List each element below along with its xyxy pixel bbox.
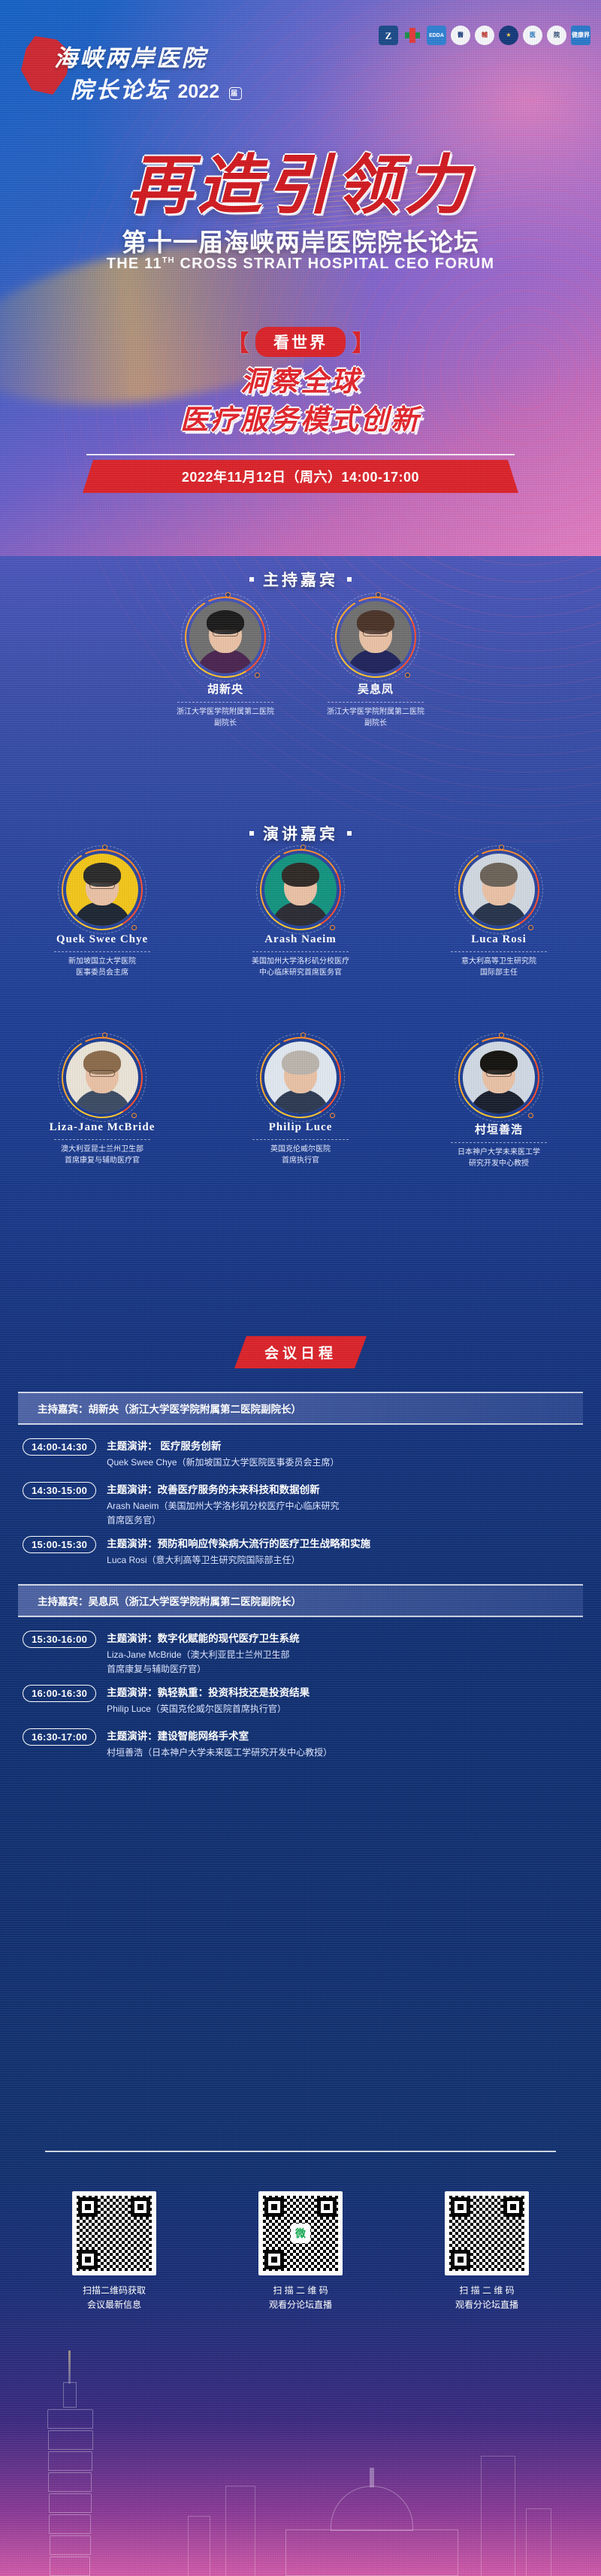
hosts-section-title: 主持嘉宾 bbox=[0, 568, 601, 591]
person-org: 美国加州大学洛杉矶分校医疗中心临床研究首席医务官 bbox=[225, 957, 376, 978]
person-org-line-1: 意大利高等卫生研究院 bbox=[430, 957, 568, 968]
ring-node-icon bbox=[300, 1033, 306, 1038]
agenda-host-bar-2: 主持嘉宾：吴息凤（浙江大学医学院附属第二医院副院长） bbox=[18, 1584, 583, 1617]
speaker-card-2: Arash Naeim美国加州大学洛杉矶分校医疗中心临床研究首席医务官 bbox=[225, 854, 376, 978]
speaker-card-5: Philip Luce英国克伦威尔医院首席执行官 bbox=[225, 1042, 376, 1166]
agenda-speaker-line: 村垣善浩（日本神户大学未来医工学研究开发中心教授） bbox=[107, 1746, 583, 1760]
agenda-speaker-line: 首席医务官） bbox=[107, 1513, 583, 1528]
ring-node-icon bbox=[102, 845, 107, 850]
host-card-1: 胡新央浙江大学医学院附属第二医院副院长 bbox=[150, 601, 300, 729]
date-banner-wrap: 2022年11月12日（周六）14:00-17:00 bbox=[0, 454, 601, 493]
bracket-right: 】 bbox=[352, 325, 374, 358]
agenda-speaker-line: Philip Luce（英国克伦威尔医院首席执行官） bbox=[107, 1702, 583, 1716]
person-org: 意大利高等卫生研究院国际部主任 bbox=[424, 957, 574, 978]
person-org-line-1: 英国克伦威尔医院 bbox=[231, 1144, 370, 1156]
date-rule bbox=[86, 454, 515, 455]
person-org-line-2: 国际部主任 bbox=[430, 968, 568, 979]
person-org-line-2: 中心临床研究首席医务官 bbox=[231, 968, 370, 979]
person-org-line-1: 日本神户大学未来医工学 bbox=[430, 1147, 568, 1159]
speaker-card-6: 村垣善浩日本神户大学未来医工学研究开发中心教授 bbox=[424, 1042, 574, 1169]
glasses-icon bbox=[213, 630, 238, 636]
glasses-icon bbox=[89, 1070, 115, 1077]
agenda-title-text: 会议日程 bbox=[234, 1336, 367, 1368]
avatar-ring bbox=[340, 601, 412, 673]
agenda-session-speaker: Liza-Jane McBride（澳大利亚昆士兰州卫生部首席康复与辅助医疗官） bbox=[107, 1648, 583, 1676]
avatar-ring bbox=[189, 601, 261, 673]
agenda-time-badge: 16:30-17:00 bbox=[23, 1728, 96, 1746]
person-org: 浙江大学医学院附属第二医院副院长 bbox=[300, 707, 451, 729]
person-org-line-2: 医事委员会主席 bbox=[33, 968, 171, 979]
ring-node-icon bbox=[300, 845, 306, 850]
avatar-ring bbox=[264, 854, 337, 926]
ring-node-icon bbox=[499, 845, 504, 850]
theme-chip-label: 看世界 bbox=[255, 327, 346, 357]
agenda-session-speaker: Luca Rosi（意大利高等卫生研究院国际部主任） bbox=[107, 1553, 583, 1568]
person-divider bbox=[54, 951, 150, 952]
hero-headline-text: 再造引领力 bbox=[128, 132, 473, 226]
agenda-time-badge: 14:30-15:00 bbox=[23, 1482, 96, 1499]
person-name: Luca Rosi bbox=[424, 933, 574, 946]
title-dot-left bbox=[249, 831, 254, 836]
qr-finder-icon bbox=[503, 2197, 523, 2217]
person-org-line-1: 浙江大学医学院附属第二医院 bbox=[156, 707, 294, 718]
person-org-line-2: 首席康复与辅助医疗官 bbox=[33, 1156, 171, 1167]
speakers-title-text: 演讲嘉宾 bbox=[263, 826, 338, 843]
ring-node-icon bbox=[330, 1113, 335, 1118]
person-divider bbox=[54, 1139, 150, 1140]
taipei-101-icon bbox=[44, 2351, 96, 2576]
partner-logo-strip: ZEDDA醫輔★医院健康界 bbox=[379, 26, 590, 45]
zhejiang-university-logo: Z bbox=[379, 26, 398, 45]
person-divider bbox=[252, 1139, 349, 1140]
person-org: 浙江大学医学院附属第二医院副院长 bbox=[150, 707, 300, 729]
building-icon bbox=[481, 2456, 515, 2576]
forum-en-sup: TH bbox=[162, 255, 175, 265]
avatar bbox=[66, 1042, 138, 1114]
avatar bbox=[264, 1042, 337, 1114]
person-org-line-1: 浙江大学医学院附属第二医院 bbox=[307, 707, 445, 718]
person-org-line-1: 新加坡国立大学医院 bbox=[33, 957, 171, 968]
agenda-time-badge: 15:00-15:30 bbox=[23, 1536, 96, 1553]
medical-college-emblem-logo: 醫 bbox=[451, 26, 470, 45]
forum-en-post: CROSS STRAIT HOSPITAL CEO FORUM bbox=[175, 255, 494, 272]
title-dot-left bbox=[249, 577, 254, 582]
forum-brand-logo: 海峡两岸医院 院长论坛 2022 届 bbox=[24, 39, 272, 104]
qr-finder-icon bbox=[317, 2197, 337, 2217]
agenda-speaker-line: Luca Rosi（意大利高等卫生研究院国际部主任） bbox=[107, 1553, 583, 1568]
avatar-ring bbox=[66, 854, 138, 926]
hero-headline: 再造引领力 bbox=[0, 132, 601, 226]
agenda-session-title: 主题演讲： 医疗服务创新 bbox=[107, 1439, 583, 1454]
qr-finder-icon bbox=[131, 2197, 150, 2217]
bracket-left: 【 bbox=[227, 325, 249, 358]
ring-node-icon bbox=[528, 1113, 533, 1118]
forum-en-pre: THE 11 bbox=[107, 255, 162, 272]
person-name: Quek Swee Chye bbox=[27, 933, 177, 946]
ring-node-icon bbox=[131, 925, 137, 930]
brand-line-2: 院长论坛 2022 届 bbox=[71, 71, 272, 104]
ring-node-icon bbox=[131, 1113, 137, 1118]
person-name: 村垣善浩 bbox=[424, 1121, 574, 1137]
person-org: 英国克伦威尔医院首席执行官 bbox=[225, 1144, 376, 1166]
avatar bbox=[340, 601, 412, 673]
person-name: 胡新央 bbox=[150, 681, 300, 697]
ring-node-icon bbox=[405, 673, 410, 678]
ring-node-icon bbox=[102, 1033, 107, 1038]
person-name: Arash Naeim bbox=[225, 933, 376, 946]
agenda-session-speaker: Philip Luce（英国克伦威尔医院首席执行官） bbox=[107, 1702, 583, 1716]
hosts-title-text: 主持嘉宾 bbox=[263, 572, 338, 589]
agenda-row: 15:30-16:00主题演讲：数字化赋能的现代医疗卫生系统Liza-Jane … bbox=[18, 1631, 583, 1676]
host-card-2: 吴息凤浙江大学医学院附属第二医院副院长 bbox=[300, 601, 451, 729]
person-org: 新加坡国立大学医院医事委员会主席 bbox=[27, 957, 177, 978]
theme-chip-row: 【 看世界 】 bbox=[0, 325, 601, 358]
agenda-session-title: 主题演讲：预防和响应传染病大流行的医疗卫生战略和实施 bbox=[107, 1537, 583, 1552]
agenda-session-title: 主题演讲：数字化赋能的现代医疗卫生系统 bbox=[107, 1631, 583, 1646]
agenda-speaker-line: Quek Swee Chye（新加坡国立大学医院医事委员会主席） bbox=[107, 1456, 583, 1470]
title-dot-right bbox=[347, 577, 352, 582]
agenda-session-speaker: Quek Swee Chye（新加坡国立大学医院医事委员会主席） bbox=[107, 1456, 583, 1470]
avatar bbox=[189, 601, 261, 673]
building-icon bbox=[225, 2486, 255, 2576]
person-divider bbox=[451, 1142, 547, 1143]
qr-center-logo-icon: 微 bbox=[291, 2224, 310, 2243]
person-name: Liza-Jane McBride bbox=[27, 1121, 177, 1134]
qr-finder-icon bbox=[78, 2197, 98, 2217]
green-cross-hospital-logo bbox=[403, 26, 422, 45]
agenda-speaker-line: Liza-Jane McBride（澳大利亚昆士兰州卫生部 bbox=[107, 1648, 583, 1662]
avatar bbox=[463, 1042, 535, 1114]
person-org-line-1: 美国加州大学洛杉矶分校医疗 bbox=[231, 957, 370, 968]
brand-year: 2022 bbox=[178, 81, 220, 102]
avatar-ring bbox=[463, 854, 535, 926]
fu-jen-hospital-logo: 輔 bbox=[475, 26, 494, 45]
avatar bbox=[463, 854, 535, 926]
person-divider bbox=[252, 951, 349, 952]
city-skyline-illustration bbox=[0, 2253, 601, 2576]
qr-finder-icon bbox=[264, 2197, 284, 2217]
person-name: 吴息凤 bbox=[300, 681, 451, 697]
edda-logo: EDDA bbox=[427, 26, 446, 45]
speaker-card-3: Luca Rosi意大利高等卫生研究院国际部主任 bbox=[424, 854, 574, 978]
agenda-host-bar-label: 主持嘉宾：吴息凤（浙江大学医学院附属第二医院副院长） bbox=[38, 1593, 301, 1608]
agenda-speaker-line: Arash Naeim（美国加州大学洛杉矶分校医疗中心临床研究 bbox=[107, 1499, 583, 1513]
avatar bbox=[264, 854, 337, 926]
person-org-line-2: 首席执行官 bbox=[231, 1156, 370, 1167]
person-org-line-1: 澳大利亚昆士兰州卫生部 bbox=[33, 1144, 171, 1156]
glasses-icon bbox=[89, 882, 115, 889]
building-icon bbox=[526, 2508, 551, 2576]
forum-title-cn: 第十一届海峡两岸医院院长论坛 bbox=[0, 222, 601, 259]
person-org-line-2: 研究开发中心教授 bbox=[430, 1159, 568, 1170]
ring-node-icon bbox=[499, 1033, 504, 1038]
medical-association-logo: 医 bbox=[523, 26, 542, 45]
ring-node-icon bbox=[225, 592, 231, 597]
agenda-time-badge: 15:30-16:00 bbox=[23, 1631, 96, 1648]
jiankangjie-logo: 健康界 bbox=[571, 26, 590, 45]
agenda-row: 16:00-16:30主题演讲：孰轻孰重：投资科技还是投资结果Philip Lu… bbox=[18, 1685, 583, 1716]
building-icon bbox=[188, 2516, 210, 2576]
agenda-speaker-line: 首席康复与辅助医疗官） bbox=[107, 1662, 583, 1677]
agenda-host-bar-label: 主持嘉宾：胡新央（浙江大学医学院附属第二医院副院长） bbox=[38, 1401, 301, 1416]
agenda-time-badge: 16:00-16:30 bbox=[23, 1685, 96, 1702]
person-org-line-2: 副院长 bbox=[156, 718, 294, 730]
speakers-section-title: 演讲嘉宾 bbox=[0, 822, 601, 845]
agenda-row: 16:30-17:00主题演讲：建设智能网络手术室村垣善浩（日本神户大学未来医工… bbox=[18, 1728, 583, 1760]
theme-line-1: 洞察全球 bbox=[0, 358, 601, 399]
agenda-session-title: 主题演讲：改善医疗服务的未来科技和数据创新 bbox=[107, 1483, 583, 1498]
brand-line-2-text: 院长论坛 bbox=[71, 78, 170, 103]
speaker-card-1: Quek Swee Chye新加坡国立大学医院医事委员会主席 bbox=[27, 854, 177, 978]
ring-node-icon bbox=[376, 592, 381, 597]
date-banner: 2022年11月12日（周六）14:00-17:00 bbox=[83, 460, 518, 493]
agenda-row: 14:30-15:00主题演讲：改善医疗服务的未来科技和数据创新Arash Na… bbox=[18, 1482, 583, 1527]
agenda-session-title: 主题演讲：建设智能网络手术室 bbox=[107, 1729, 583, 1744]
ring-node-icon bbox=[255, 673, 260, 678]
agenda-session-title: 主题演讲：孰轻孰重：投资科技还是投资结果 bbox=[107, 1686, 583, 1701]
forum-title-en: THE 11TH CROSS STRAIT HOSPITAL CEO FORUM bbox=[0, 255, 601, 273]
agenda-session-speaker: 村垣善浩（日本神户大学未来医工学研究开发中心教授） bbox=[107, 1746, 583, 1760]
navy-shield-logo: ★ bbox=[499, 26, 518, 45]
person-name: Philip Luce bbox=[225, 1121, 376, 1134]
theme-line-2: 医疗服务模式创新 bbox=[0, 397, 601, 437]
ring-node-icon bbox=[528, 925, 533, 930]
agenda-session-speaker: Arash Naeim（美国加州大学洛杉矶分校医疗中心临床研究首席医务官） bbox=[107, 1499, 583, 1527]
dome-building-icon bbox=[285, 2463, 458, 2576]
qr-finder-icon bbox=[451, 2197, 470, 2217]
title-dot-right bbox=[347, 831, 352, 836]
speaker-card-4: Liza-Jane McBride澳大利亚昆士兰州卫生部首席康复与辅助医疗官 bbox=[27, 1042, 177, 1166]
avatar bbox=[66, 854, 138, 926]
person-divider bbox=[177, 702, 273, 703]
person-org-line-2: 副院长 bbox=[307, 718, 445, 730]
glasses-icon bbox=[486, 1070, 512, 1077]
person-divider bbox=[451, 951, 547, 952]
avatar-ring bbox=[66, 1042, 138, 1114]
avatar-ring bbox=[264, 1042, 337, 1114]
agenda-row: 14:00-14:30主题演讲： 医疗服务创新Quek Swee Chye（新加… bbox=[18, 1438, 583, 1470]
brand-line-1: 海峡两岸医院 bbox=[54, 39, 272, 73]
agenda-host-bar-1: 主持嘉宾：胡新央（浙江大学医学院附属第二医院副院长） bbox=[18, 1392, 583, 1425]
agenda-tab: 会议日程 bbox=[0, 1336, 601, 1368]
person-org: 澳大利亚昆士兰州卫生部首席康复与辅助医疗官 bbox=[27, 1144, 177, 1166]
avatar-ring bbox=[463, 1042, 535, 1114]
person-divider bbox=[328, 702, 424, 703]
glasses-icon bbox=[363, 630, 388, 636]
person-org: 日本神户大学未来医工学研究开发中心教授 bbox=[424, 1147, 574, 1169]
agenda-time-badge: 14:00-14:30 bbox=[23, 1438, 96, 1456]
hospital-seal-logo: 院 bbox=[547, 26, 566, 45]
footer-divider bbox=[45, 2151, 556, 2152]
brand-edition-badge: 届 bbox=[229, 87, 242, 100]
ring-node-icon bbox=[330, 925, 335, 930]
agenda-row: 15:00-15:30主题演讲：预防和响应传染病大流行的医疗卫生战略和实施Luc… bbox=[18, 1536, 583, 1568]
